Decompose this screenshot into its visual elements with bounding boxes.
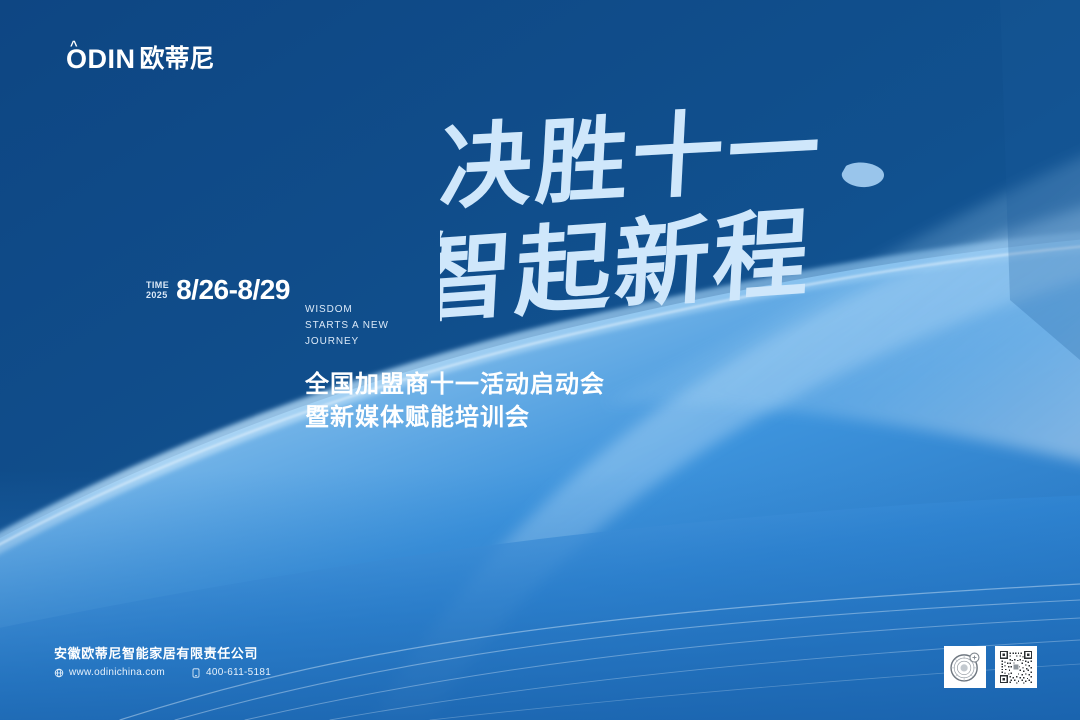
footer-block: 安徽欧蒂尼智能家居有限责任公司 www.odinichina.com	[54, 645, 271, 679]
tagline-line-2: STARTS A NEW	[305, 318, 389, 334]
subtitle-line-2: 暨新媒体赋能培训会	[305, 401, 605, 434]
time-label: TIME 2025	[146, 280, 169, 300]
logo-macron-mark: ^	[70, 39, 78, 52]
odin-logo[interactable]: ^ODIN 欧蒂尼	[66, 46, 215, 73]
logo-din-letters: DIN	[88, 44, 136, 74]
logo-latin-text: ^ODIN	[66, 46, 136, 73]
website-url: www.odinichina.com	[69, 667, 165, 679]
phone-icon	[191, 668, 201, 678]
english-tagline: WISDOM STARTS A NEW JOURNEY	[305, 302, 389, 350]
globe-icon	[54, 668, 64, 678]
event-poster: ^ODIN 欧蒂尼 决胜十一 智起新程 TIME 2025 8/26-8/29 …	[0, 0, 1080, 720]
company-seal-badge[interactable]	[944, 646, 986, 688]
time-label-word: TIME	[146, 280, 169, 290]
tagline-line-1: WISDOM	[305, 302, 389, 318]
company-name: 安徽欧蒂尼智能家居有限责任公司	[54, 645, 271, 663]
event-date-block: TIME 2025 8/26-8/29	[146, 276, 290, 304]
tagline-line-3: JOURNEY	[305, 334, 389, 350]
subtitle-line-1: 全国加盟商十一活动启动会	[305, 368, 605, 401]
phone-number: 400-611-5181	[206, 667, 271, 679]
logo-chinese-text: 欧蒂尼	[140, 47, 215, 72]
phone-item[interactable]: 400-611-5181	[191, 667, 271, 679]
website-item[interactable]: www.odinichina.com	[54, 667, 165, 679]
event-date-range: 8/26-8/29	[176, 276, 290, 304]
headline-calligraphy: 决胜十一 智起新程	[440, 108, 910, 353]
contact-row: www.odinichina.com 400-611-5181	[54, 667, 271, 679]
wechat-qr-code[interactable]	[995, 646, 1037, 688]
code-strip	[944, 646, 1037, 688]
event-subtitle: 全国加盟商十一活动启动会 暨新媒体赋能培训会	[305, 368, 605, 434]
time-label-year: 2025	[146, 290, 169, 300]
